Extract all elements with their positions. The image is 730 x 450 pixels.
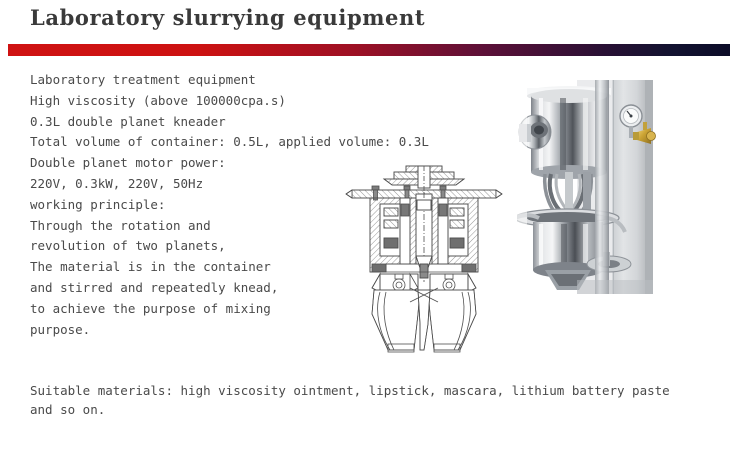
description-line: to achieve the purpose of mixing bbox=[30, 299, 360, 320]
footer-line: and so on. bbox=[30, 401, 710, 420]
description-line: purpose. bbox=[30, 320, 360, 341]
description-line: working principle: bbox=[30, 195, 360, 216]
description-line: Through the rotation and bbox=[30, 216, 360, 237]
description-line: High viscosity (above 100000cpa.s) bbox=[30, 91, 360, 112]
page-title: Laboratory slurrying equipment bbox=[30, 5, 425, 30]
product-photo bbox=[517, 66, 697, 314]
gradient-divider bbox=[8, 44, 730, 56]
description-line: 0.3L double planet kneader bbox=[30, 112, 360, 133]
footer-line: Suitable materials: high viscosity ointm… bbox=[30, 382, 710, 401]
description-line: 220V, 0.3kW, 220V, 50Hz bbox=[30, 174, 360, 195]
slide-canvas: Laboratory slurrying equipment Laborator… bbox=[0, 0, 730, 450]
description-line: and stirred and repeatedly knead, bbox=[30, 278, 360, 299]
description-line: Total volume of container: 0.5L, applied… bbox=[30, 132, 360, 153]
footer-text-block: Suitable materials: high viscosity ointm… bbox=[30, 382, 710, 419]
description-line: revolution of two planets, bbox=[30, 236, 360, 257]
description-line: Double planet motor power: bbox=[30, 153, 360, 174]
description-line: The material is in the container bbox=[30, 257, 360, 278]
description-text-block: Laboratory treatment equipment High visc… bbox=[30, 70, 360, 340]
technical-drawing bbox=[344, 164, 504, 362]
description-line: Laboratory treatment equipment bbox=[30, 70, 360, 91]
